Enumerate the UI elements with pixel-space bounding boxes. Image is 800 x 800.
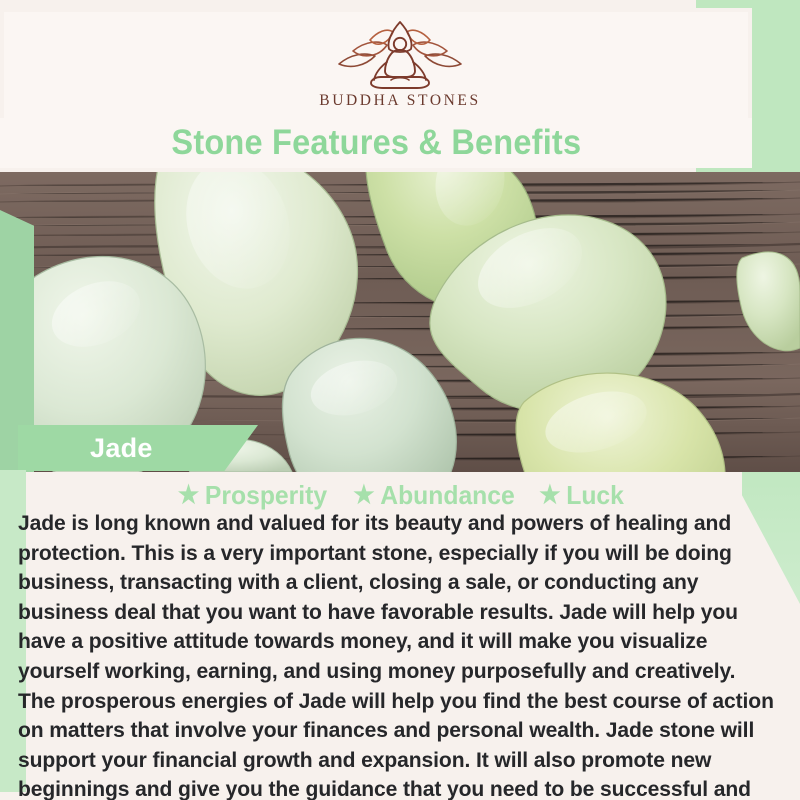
stone-info-poster: BUDDHA STONES Stone Features & Benefits <box>0 0 800 800</box>
benefit-label: Prosperity <box>205 480 327 511</box>
brand-name: BUDDHA STONES <box>319 92 480 110</box>
brand-logo: BUDDHA STONES <box>0 18 800 118</box>
stone-name: Jade <box>90 433 153 464</box>
benefit-item-luck: ★ Luck <box>539 480 624 511</box>
benefits-list: ★ Prosperity ★ Abundance ★ Luck <box>0 478 800 512</box>
star-icon: ★ <box>178 483 199 508</box>
benefit-item-prosperity: ★ Prosperity <box>178 480 327 511</box>
header-title-band: Stone Features & Benefits <box>0 118 752 168</box>
lotus-meditation-figure-icon <box>325 18 475 90</box>
benefit-item-abundance: ★ Abundance <box>353 480 515 511</box>
star-icon: ★ <box>353 483 374 508</box>
benefit-label: Luck <box>566 480 624 511</box>
stone-description: Jade is long known and valued for its be… <box>18 509 774 800</box>
benefit-label: Abundance <box>380 480 514 511</box>
page-title: Stone Features & Benefits <box>171 123 581 163</box>
star-icon: ★ <box>539 483 560 508</box>
stone-name-band: Jade <box>18 425 258 471</box>
